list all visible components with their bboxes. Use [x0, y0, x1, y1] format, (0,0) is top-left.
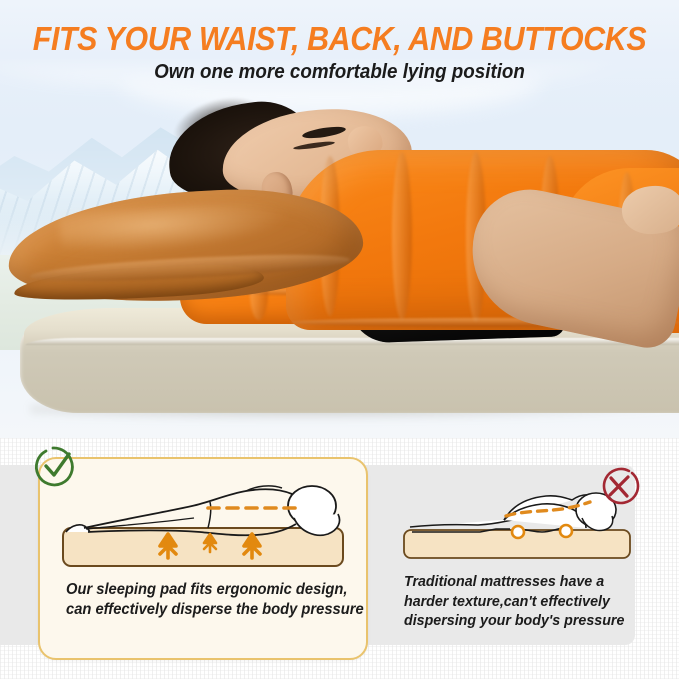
back-outline: [84, 489, 292, 528]
shoulder-arm-shape: [582, 516, 613, 531]
hero-photo-section: FITS YOUR WAIST, BACK, AND BUTTOCKS Own …: [0, 0, 679, 438]
caption-line: Our sleeping pad fits ergonomic design,: [66, 580, 361, 600]
good-pressure-diagram: [60, 480, 350, 572]
caption-line: dispersing your body's pressure: [404, 611, 642, 631]
bad-caption: Traditional mattresses have a harder tex…: [404, 572, 642, 631]
caption-line: harder texture,can't effectively: [404, 592, 642, 612]
mattress-shape: [63, 528, 343, 566]
mattress-pad-seam: [26, 338, 679, 345]
caption-line: Traditional mattresses have a: [404, 572, 642, 592]
sleeping-bag-baffle: [392, 152, 412, 320]
comparison-section: Traditional mattresses have a harder tex…: [0, 438, 679, 679]
product-feature-image: FITS YOUR WAIST, BACK, AND BUTTOCKS Own …: [0, 0, 679, 679]
check-circle-icon: [33, 444, 79, 490]
subheadline: Own one more comfortable lying position: [20, 60, 658, 85]
x-circle-icon: [596, 464, 642, 510]
headline: FITS YOUR WAIST, BACK, AND BUTTOCKS: [27, 20, 652, 58]
pressure-point: [512, 526, 524, 538]
pressure-point: [560, 525, 572, 537]
good-caption: Our sleeping pad fits ergonomic design, …: [66, 580, 361, 620]
caption-line: can effectively disperse the body pressu…: [66, 600, 361, 620]
headline-band: FITS YOUR WAIST, BACK, AND BUTTOCKS Own …: [0, 0, 679, 96]
arm-line: [208, 502, 211, 528]
